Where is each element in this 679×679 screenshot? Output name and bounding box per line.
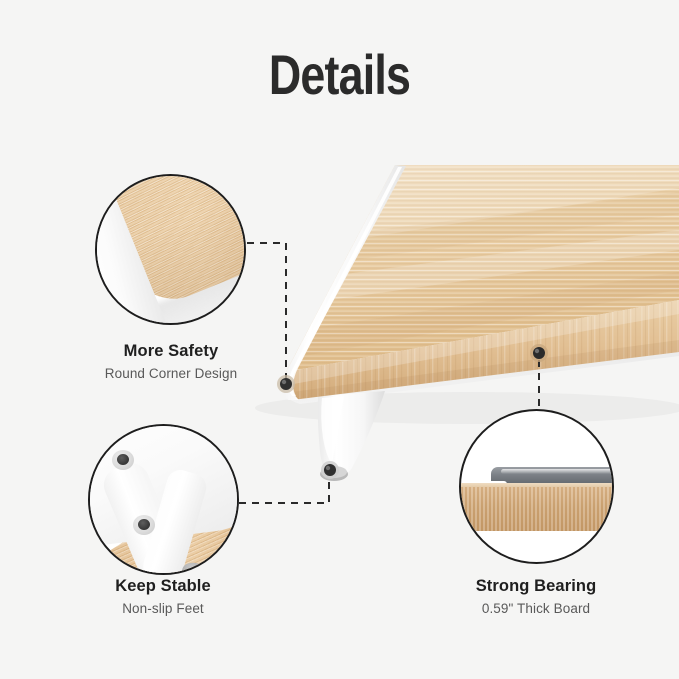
screw-icon [112,450,134,470]
details-infographic: Details [0,0,679,679]
callout-circle-strong-bearing [459,409,614,564]
callout-circle-more-safety [95,174,246,325]
callout-subtitle: Non-slip Feet [62,599,264,619]
callout-caption-more-safety: More Safety Round Corner Design [70,340,272,384]
callout-title: Strong Bearing [435,575,637,597]
callout-circle-keep-stable [88,424,239,575]
screw-icon [133,515,155,535]
callout-caption-strong-bearing: Strong Bearing 0.59" Thick Board [435,575,637,619]
callout-subtitle: Round Corner Design [70,364,272,384]
callout-title: More Safety [70,340,272,362]
callout-subtitle: 0.59" Thick Board [435,599,637,619]
board-thickness-body [459,487,614,531]
callout-title: Keep Stable [62,575,264,597]
callout-caption-keep-stable: Keep Stable Non-slip Feet [62,575,264,619]
